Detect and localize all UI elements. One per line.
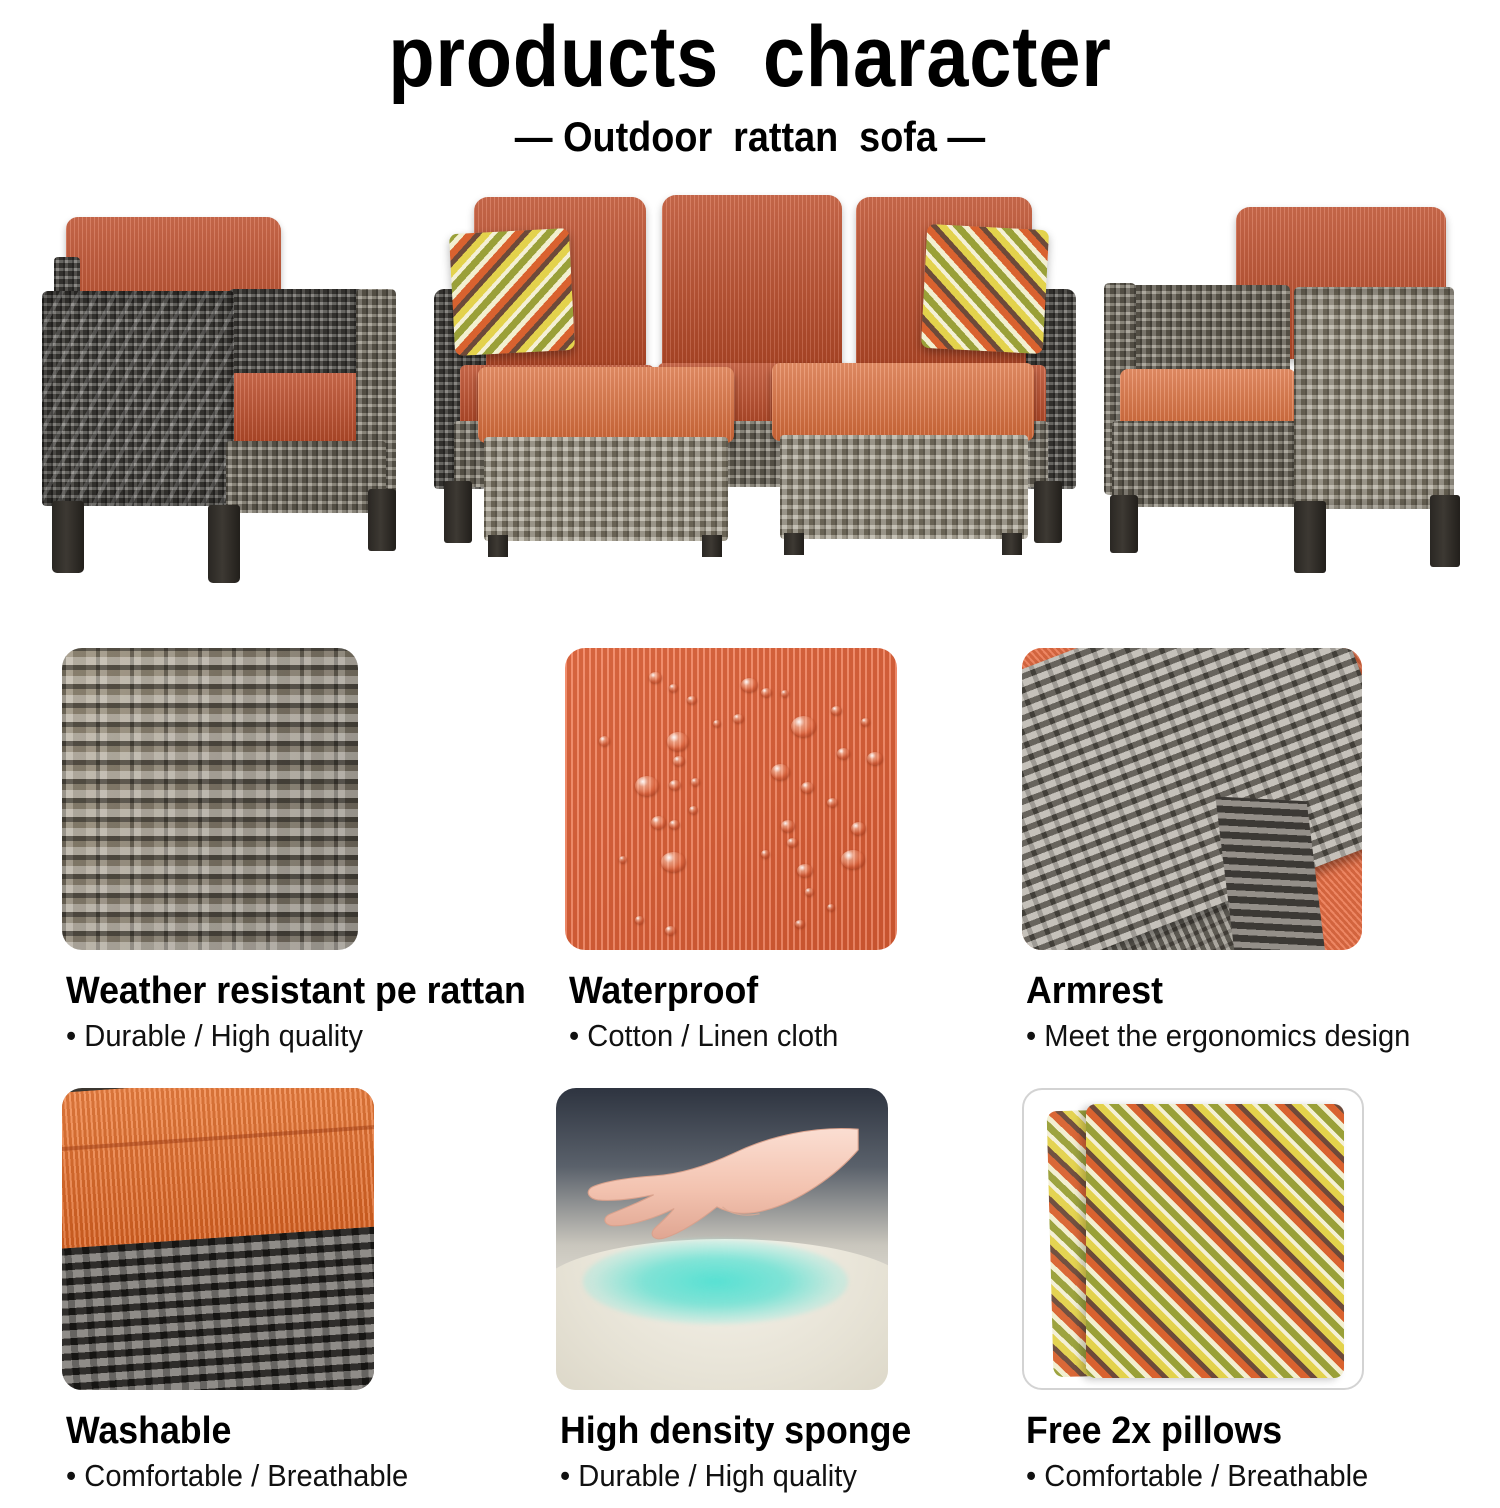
water-droplet — [801, 782, 814, 793]
water-droplets-on-orange-fabric-image — [565, 648, 897, 950]
foam-pressure-glow — [583, 1239, 849, 1324]
washable-rattan-base — [62, 1227, 374, 1390]
left-armchair-leg-back-right — [368, 489, 396, 551]
sofa-back-cushion-2 — [662, 195, 842, 371]
ottoman-left-cushion — [478, 367, 734, 443]
feature-armrest: Armrest • Meet the ergonomics design — [1022, 648, 1482, 1068]
hand-illustration — [583, 1124, 862, 1245]
throw-pillow-right — [921, 224, 1049, 354]
feature-subtitle: • Comfortable / Breathable — [1026, 1460, 1368, 1491]
water-droplet — [687, 696, 697, 704]
infographic-header: products character — Outdoor rattan sofa… — [0, 0, 1500, 158]
water-droplet — [837, 748, 850, 759]
right-armchair-leg-front-left — [1110, 495, 1138, 553]
water-droplet — [667, 732, 689, 751]
right-armchair-leg-front-right — [1294, 501, 1326, 573]
orange-cushion-on-rattan-base-image — [62, 1088, 374, 1390]
water-droplet — [661, 852, 686, 872]
ottoman-left-leg-right — [702, 535, 722, 557]
feature-subtitle: • Cotton / Linen cloth — [569, 1020, 838, 1051]
right-armchair-right-arm-panel — [1294, 287, 1454, 509]
ottoman-right — [772, 363, 1040, 555]
water-droplet — [651, 816, 666, 829]
feature-title: High density sponge — [560, 1412, 911, 1450]
feature-free-2x-pillows: Free 2x pillows • Comfortable / Breathab… — [1022, 1088, 1482, 1508]
water-droplet — [861, 718, 870, 726]
water-droplet — [713, 720, 721, 727]
left-armchair-arm-diagonal-detail — [42, 291, 234, 506]
water-droplet — [691, 778, 700, 786]
water-droplet — [673, 756, 685, 766]
ottoman-right-cushion — [772, 363, 1034, 441]
left-armchair — [30, 205, 420, 585]
water-droplet — [805, 888, 814, 896]
ottoman-left — [478, 367, 740, 557]
feature-title: Free 2x pillows — [1026, 1412, 1282, 1450]
water-droplet — [771, 764, 790, 780]
right-armchair — [1086, 199, 1476, 579]
page-title: products character — [90, 14, 1410, 100]
water-droplet — [867, 752, 883, 765]
left-armchair-leg-front-right — [208, 505, 240, 583]
water-droplet — [761, 688, 772, 697]
water-droplet — [665, 926, 676, 935]
water-droplet — [781, 820, 795, 832]
water-droplet — [635, 916, 644, 924]
sofa-leg-left — [444, 481, 472, 543]
feature-washable: Washable • Comfortable / Breathable — [62, 1088, 522, 1508]
throw-pillow-left — [449, 228, 575, 356]
feature-subtitle: • Durable / High quality — [560, 1460, 857, 1491]
ottoman-right-leg-right — [1002, 533, 1022, 555]
feature-title: Weather resistant pe rattan — [66, 972, 526, 1010]
feature-weather-resistant-pe-rattan: Weather resistant pe rattan • Durable / … — [62, 648, 542, 1068]
right-armchair-base — [1112, 421, 1300, 507]
feature-title: Armrest — [1026, 972, 1163, 1010]
water-droplet — [649, 672, 662, 683]
water-droplet — [669, 780, 681, 790]
feature-title: Waterproof — [569, 972, 758, 1010]
water-droplet — [635, 776, 659, 796]
left-armchair-base — [226, 441, 386, 513]
feature-high-density-sponge: High density sponge • Durable / High qua… — [556, 1088, 1016, 1508]
feature-title: Washable — [66, 1412, 231, 1450]
rattan-weave-closeup-image — [62, 648, 358, 950]
feature-subtitle: • Durable / High quality — [66, 1020, 363, 1051]
hand-pressing-memory-foam-image — [556, 1088, 888, 1390]
water-droplet — [851, 822, 866, 835]
water-droplet — [841, 850, 865, 869]
water-droplet — [761, 850, 770, 858]
water-droplet — [831, 706, 842, 715]
ottoman-left-leg-left — [488, 535, 508, 557]
two-chevron-throw-pillows-image — [1022, 1088, 1364, 1390]
water-droplet — [795, 920, 805, 928]
right-armchair-leg-back-right — [1430, 495, 1460, 567]
ottoman-right-base — [780, 435, 1028, 539]
water-droplet — [827, 798, 838, 807]
water-droplet — [619, 856, 627, 863]
water-droplet — [599, 736, 610, 746]
water-droplet — [827, 904, 835, 911]
woven-armrest-corner-image — [1022, 648, 1362, 950]
water-droplet — [797, 864, 813, 877]
water-droplet — [689, 806, 698, 814]
water-droplet — [733, 714, 744, 723]
water-droplet — [669, 684, 678, 692]
water-droplet — [669, 820, 680, 829]
pillow-front — [1086, 1104, 1344, 1378]
ottoman-left-base — [484, 437, 728, 541]
page-subtitle: — Outdoor rattan sofa — — [75, 116, 1425, 158]
left-armchair-leg-front-left — [52, 501, 84, 573]
water-droplet — [791, 716, 816, 737]
feature-subtitle: • Meet the ergonomics design — [1026, 1020, 1410, 1051]
ottoman-right-leg-left — [784, 533, 804, 555]
feature-subtitle: • Comfortable / Breathable — [66, 1460, 408, 1491]
water-droplet — [781, 690, 789, 697]
water-droplet — [787, 838, 798, 847]
water-droplet — [741, 678, 758, 692]
hero-product-image — [0, 185, 1500, 585]
feature-waterproof: Waterproof • Cotton / Linen cloth — [565, 648, 985, 1068]
